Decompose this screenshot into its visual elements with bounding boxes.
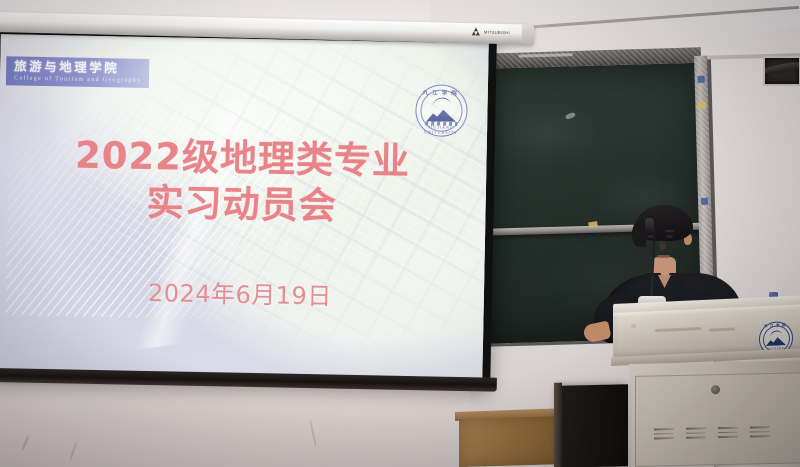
housing-endcap (522, 24, 534, 44)
college-banner: 旅游与地理学院 College of Tourism and Geography (6, 56, 150, 87)
podium-vent (718, 427, 738, 441)
podium-lock-icon[interactable] (711, 385, 720, 394)
mitsubishi-three-diamonds-icon (472, 27, 481, 35)
podium-vent (654, 428, 674, 442)
lower-wall (0, 377, 470, 467)
clip-icon (698, 76, 705, 83)
presenter-mouth (657, 255, 670, 258)
presenter-eye (666, 235, 673, 238)
seal-name-english: JIUJIANG UNIVERSITY (415, 124, 467, 135)
podium-vent (686, 427, 706, 441)
podium-cabinet-door[interactable] (635, 372, 800, 466)
podium-vent-group (654, 426, 770, 442)
wall-scuff (69, 441, 78, 463)
wall-scuff (21, 435, 30, 451)
podium-cabinet (629, 360, 800, 467)
podium-scuff (631, 324, 636, 328)
college-name-english: College of Tourism and Geography (14, 74, 142, 83)
slide-title: 2022级地理类专业 实习动员会 (0, 131, 487, 232)
podium-scuff (709, 327, 735, 331)
lectern-podium: 九江学院 JIUJIANG UNIVERSITY (605, 304, 800, 467)
podium-scuff (655, 327, 701, 332)
slide-title-line-2: 实习动员会 (0, 177, 486, 232)
university-seal-icon: 九江学院 JIUJIANG UNIVERSITY (415, 84, 468, 137)
seal-name-chinese: 九江学院 (416, 88, 468, 97)
presenter-hair (635, 205, 693, 241)
projector-brand-label: MITSUBISHI (484, 29, 510, 35)
floor-loudspeaker (560, 384, 628, 467)
podium-vent (750, 426, 770, 440)
loudspeaker-edge (554, 383, 562, 467)
college-name-chinese: 旅游与地理学院 (14, 59, 142, 75)
presenter-nose (659, 239, 666, 250)
mitsubishi-logo: MITSUBISHI (472, 27, 510, 36)
wall-scuff (309, 419, 317, 447)
microphone-head-icon (645, 218, 654, 233)
lecture-hall-photo: MITSUBISHI 旅游与地理学院 College of Tourism an… (0, 0, 800, 467)
wall-cable-opening-icon (763, 56, 800, 86)
projection-screen: 旅游与地理学院 College of Tourism and Geography… (0, 27, 497, 389)
tape-mark (697, 102, 706, 109)
presenter-eyebrow (665, 230, 674, 232)
presentation-slide: 旅游与地理学院 College of Tourism and Geography… (0, 34, 489, 378)
